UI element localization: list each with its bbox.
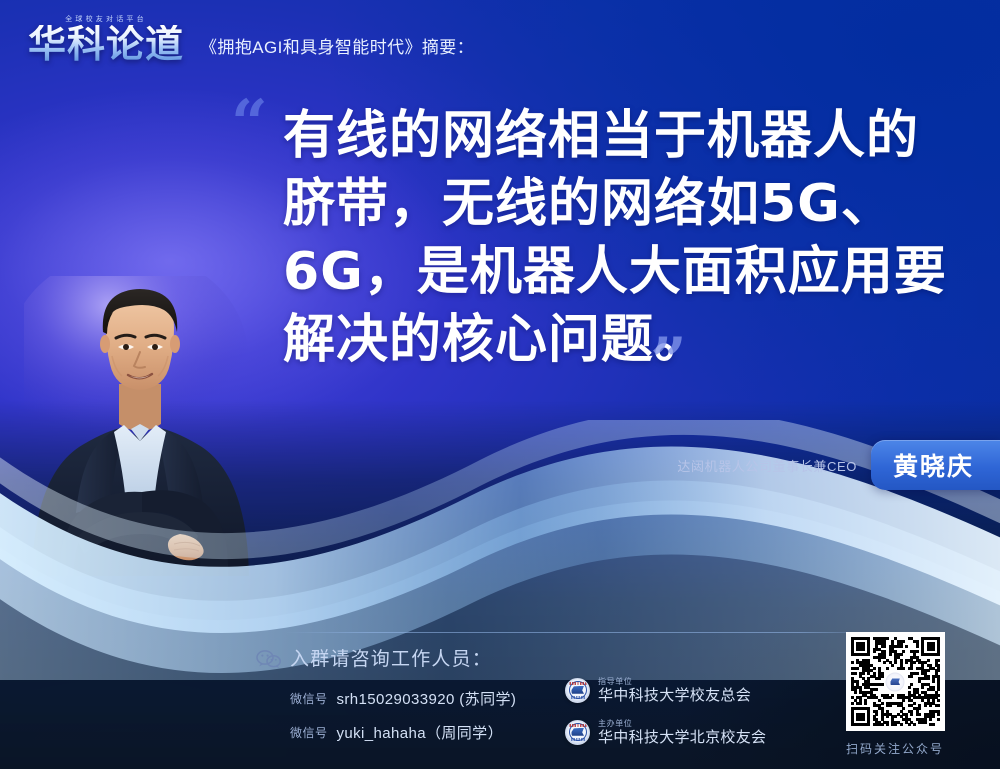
page-title: 《拥抱AGI和具身智能时代》摘要：: [200, 33, 474, 63]
speaker-name: 黄晓庆: [893, 452, 974, 481]
quote-line: 6G，是机器人大面积应用要: [283, 238, 963, 306]
footer-divider: [285, 632, 883, 633]
footer-heading: 入群请咨询工作人员：: [290, 644, 856, 671]
organization-row: 主办单位 华中科技大学北京校友会: [565, 714, 875, 750]
organization-name: 华中科技大学校友总会: [598, 687, 751, 704]
speaker-name-badge: 黄晓庆: [871, 440, 1000, 490]
quote-text: 有线的网络相当于机器人的 脐带，无线的网络如5G、 6G，是机器人大面积应用要 …: [283, 102, 963, 374]
attribution: 达闼机器人公司董事长兼CEO 黄晓庆: [677, 440, 1000, 490]
speaker-role: 达闼机器人公司董事长兼CEO: [677, 456, 857, 475]
quote-line: 脐带，无线的网络如5G、: [283, 170, 963, 238]
organization-kind: 主办单位: [598, 719, 766, 729]
university-emblem-icon: [565, 678, 590, 703]
wechat-label: 微信号: [290, 724, 328, 741]
quote-line: 解决的核心问题。: [283, 306, 963, 374]
quote-close-mark: ”: [650, 330, 687, 394]
header: 全球校友对话平台 华科论道 《拥抱AGI和具身智能时代》摘要：: [28, 14, 474, 63]
wechat-id[interactable]: srh15029033920 (苏同学): [337, 688, 517, 709]
organization-name: 华中科技大学北京校友会: [598, 729, 766, 746]
logo-text: 华科论道: [28, 25, 184, 63]
wechat-icon: [256, 649, 282, 669]
quote-line: 有线的网络相当于机器人的: [283, 102, 963, 170]
qr-block: 扫码关注公众号: [833, 632, 957, 757]
quote-open-mark: “: [231, 92, 268, 156]
qr-center-logo-icon: [886, 672, 905, 691]
organization-list: 指导单位 华中科技大学校友总会 主办单位 华中科技大学北京校友会: [565, 672, 875, 750]
brand-logo[interactable]: 全球校友对话平台 华科论道: [28, 14, 184, 63]
poster: 全球校友对话平台 华科论道 《拥抱AGI和具身智能时代》摘要： “ 有线的网络相…: [0, 0, 1000, 769]
qr-code[interactable]: [846, 632, 945, 731]
organization-row: 指导单位 华中科技大学校友总会: [565, 672, 875, 708]
university-emblem-icon: [565, 720, 590, 745]
qr-caption: 扫码关注公众号: [833, 740, 957, 757]
wechat-id[interactable]: yuki_hahaha（周同学）: [337, 722, 503, 743]
organization-kind: 指导单位: [598, 677, 751, 687]
wechat-label: 微信号: [290, 690, 328, 707]
